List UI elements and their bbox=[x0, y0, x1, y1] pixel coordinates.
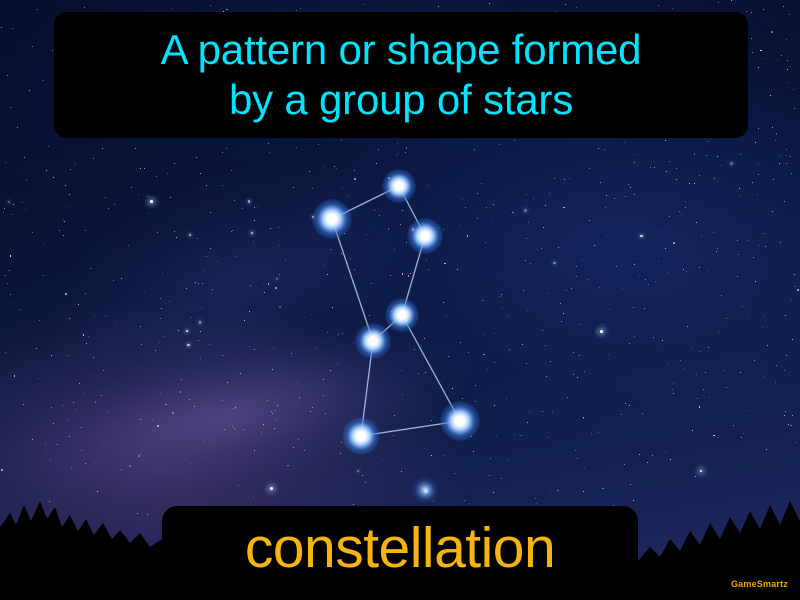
constellation-edge bbox=[332, 219, 373, 341]
term-panel: constellation bbox=[162, 506, 638, 600]
watermark-label: GameSmartz bbox=[731, 579, 788, 589]
definition-line-2: by a group of stars bbox=[229, 75, 573, 125]
constellation-edge bbox=[373, 315, 402, 341]
constellation-edge bbox=[361, 421, 460, 436]
constellation-edge bbox=[361, 341, 373, 436]
term-label: constellation bbox=[245, 512, 555, 584]
constellation-edge bbox=[402, 315, 460, 421]
definition-card: A pattern or shape formed by a group of … bbox=[0, 0, 800, 600]
constellation-edge bbox=[399, 186, 425, 236]
constellation-edge bbox=[402, 236, 425, 315]
definition-panel: A pattern or shape formed by a group of … bbox=[54, 12, 748, 138]
definition-line-1: A pattern or shape formed bbox=[161, 25, 642, 75]
constellation-edge bbox=[332, 186, 399, 219]
